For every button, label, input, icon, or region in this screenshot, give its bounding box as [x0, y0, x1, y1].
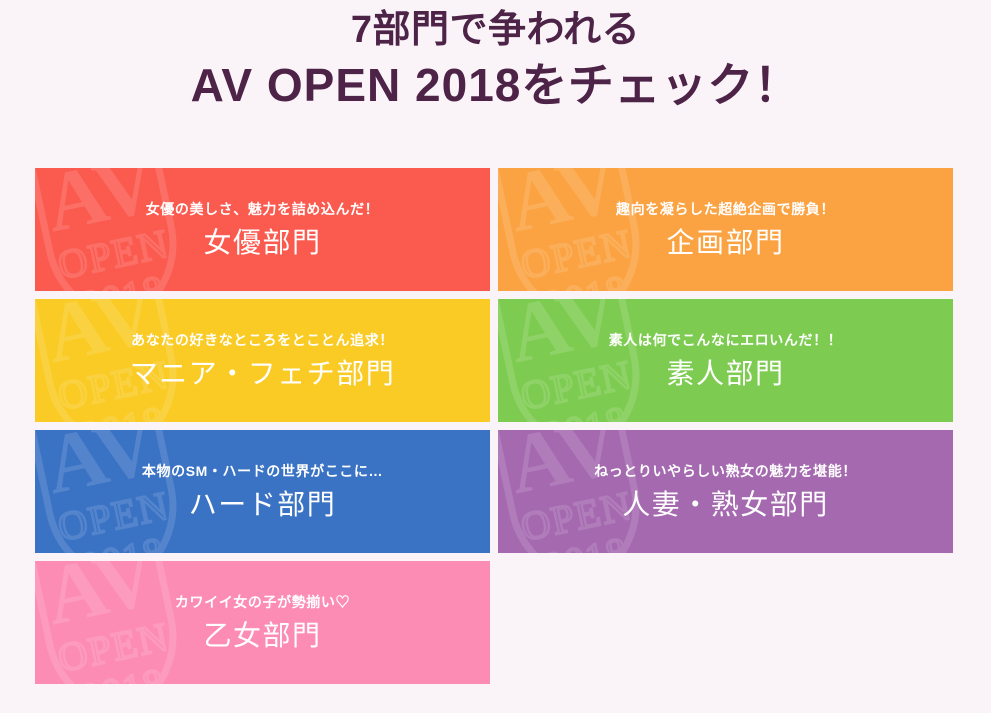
svg-text:2018: 2018: [540, 266, 632, 291]
page-title-jp: をチェック！: [521, 59, 800, 111]
page-root: 7部門で争われる AV OPEN 2018をチェック！ AV OPEN 2018…: [0, 0, 991, 713]
page-title-line2: AV OPEN 2018をチェック！: [0, 56, 991, 114]
svg-text:OPEN: OPEN: [517, 220, 636, 287]
svg-text:OPEN: OPEN: [517, 482, 636, 549]
av-open-2018-watermark-icon: AV OPEN 2018: [35, 430, 199, 553]
svg-text:OPEN: OPEN: [54, 482, 173, 549]
category-card-actress[interactable]: AV OPEN 2018 女優の美しさ、魅力を詰め込んだ！ 女優部門: [35, 168, 490, 291]
category-card-title: ハード部門: [189, 487, 337, 523]
category-card-subtitle: ねっとりいやらしい熟女の魅力を堪能！: [594, 461, 857, 481]
category-card-title: マニア・フェチ部門: [130, 356, 396, 392]
category-card-title: 素人部門: [666, 356, 784, 392]
svg-text:OPEN: OPEN: [517, 351, 636, 418]
svg-text:AV: AV: [500, 168, 627, 250]
svg-text:2018: 2018: [77, 397, 169, 422]
category-card-subtitle: 女優の美しさ、魅力を詰め込んだ！: [146, 199, 380, 219]
av-open-2018-watermark-icon: AV OPEN 2018: [35, 561, 199, 684]
svg-text:AV: AV: [37, 561, 164, 643]
svg-text:OPEN: OPEN: [54, 220, 173, 287]
category-card-mature[interactable]: AV OPEN 2018 ねっとりいやらしい熟女の魅力を堪能！ 人妻・熟女部門: [498, 430, 953, 553]
category-card-subtitle: あなたの好きなところをとことん追求！: [131, 330, 394, 350]
category-card-grid: AV OPEN 2018 女優の美しさ、魅力を詰め込んだ！ 女優部門 AV OP…: [35, 168, 954, 684]
category-card-mania-fetish[interactable]: AV OPEN 2018 あなたの好きなところをとことん追求！ マニア・フェチ部…: [35, 299, 490, 422]
category-card-hard[interactable]: AV OPEN 2018 本物のSM・ハードの世界がここに… ハード部門: [35, 430, 490, 553]
page-title: 7部門で争われる AV OPEN 2018をチェック！: [0, 0, 991, 114]
category-card-planning[interactable]: AV OPEN 2018 趣向を凝らした超絶企画で勝負！ 企画部門: [498, 168, 953, 291]
category-card-subtitle: 趣向を凝らした超絶企画で勝負！: [616, 199, 835, 219]
category-card-title: 女優部門: [203, 225, 321, 261]
svg-text:2018: 2018: [540, 528, 632, 553]
svg-text:2018: 2018: [77, 659, 169, 684]
svg-text:2018: 2018: [540, 397, 632, 422]
category-card-title: 乙女部門: [203, 618, 321, 654]
svg-text:OPEN: OPEN: [54, 613, 173, 680]
svg-text:2018: 2018: [77, 528, 169, 553]
category-card-title: 人妻・熟女部門: [622, 487, 829, 523]
category-card-maiden[interactable]: AV OPEN 2018 カワイイ女の子が勢揃い♡ 乙女部門: [35, 561, 490, 684]
av-open-2018-watermark-icon: AV OPEN 2018: [35, 168, 199, 291]
category-card-title: 企画部門: [666, 225, 784, 261]
category-card-subtitle: カワイイ女の子が勢揃い♡: [175, 592, 350, 612]
category-card-subtitle: 素人は何でこんなにエロいんだ！！: [609, 330, 843, 350]
category-card-subtitle: 本物のSM・ハードの世界がここに…: [142, 461, 383, 481]
svg-text:2018: 2018: [77, 266, 169, 291]
av-open-2018-watermark-icon: AV OPEN 2018: [498, 168, 662, 291]
page-title-latin: AV OPEN 2018: [191, 59, 522, 111]
category-card-amateur[interactable]: AV OPEN 2018 素人は何でこんなにエロいんだ！！ 素人部門: [498, 299, 953, 422]
page-title-line1: 7部門で争われる: [0, 4, 991, 56]
av-open-2018-watermark-icon: AV OPEN 2018: [498, 299, 662, 422]
